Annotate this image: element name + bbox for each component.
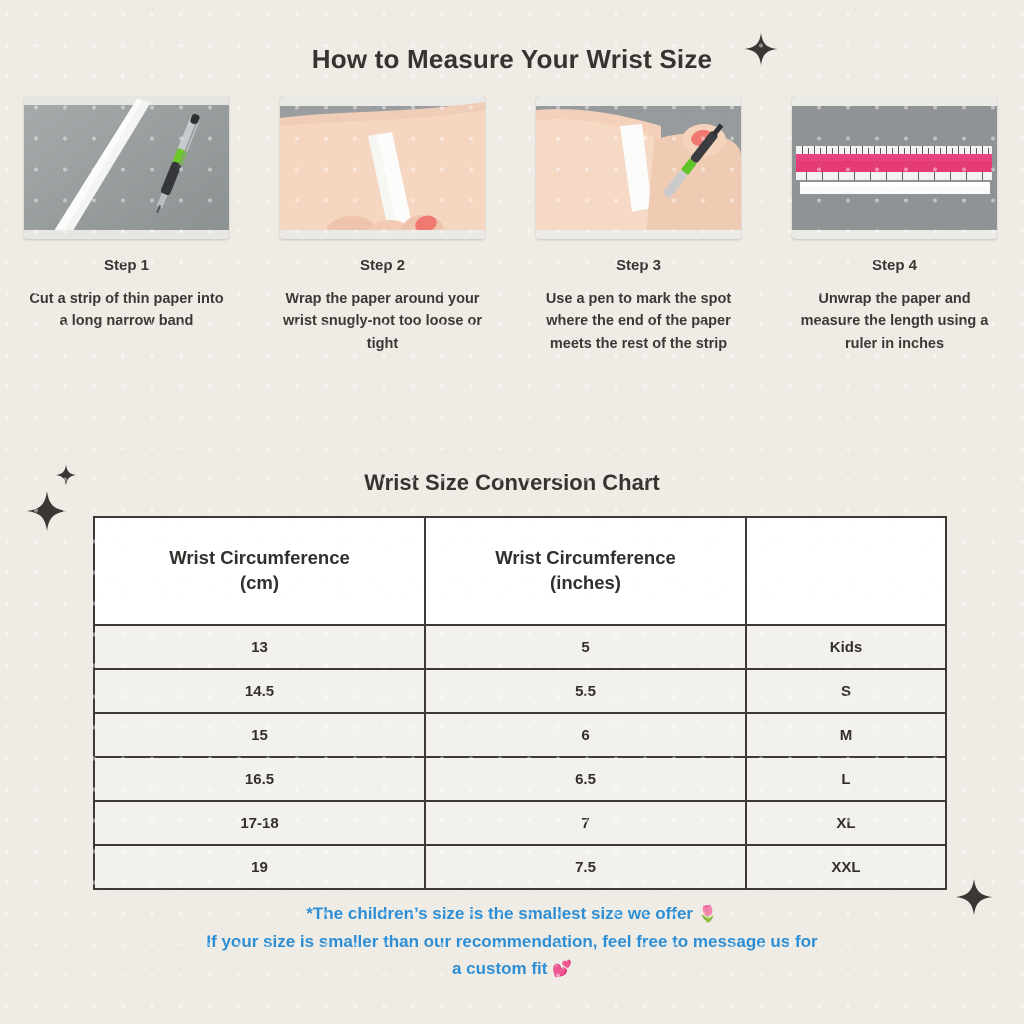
sparkle-footnote-right-icon — [955, 878, 993, 916]
cell-inches: 5.5 — [425, 669, 746, 713]
table-header: Wrist Circumference (cm) Wrist Circumfer… — [94, 517, 946, 625]
cell-cm: 14.5 — [94, 669, 425, 713]
column-header-inches-line1: Wrist Circumference — [436, 546, 735, 571]
sparkle-chart-left-small-icon — [55, 464, 77, 486]
table-row: 14.5 5.5 S — [94, 669, 946, 713]
paper-wrapped-around-wrist-photo — [280, 96, 485, 239]
cell-size: XL — [746, 801, 946, 845]
step-description-3: Use a pen to mark the spot where the end… — [536, 288, 741, 355]
sparkle-title-right-icon — [744, 32, 778, 66]
wrist-size-conversion-table: Wrist Circumference (cm) Wrist Circumfer… — [93, 516, 947, 890]
footnote-line-2: If your size is smaller than our recomme… — [60, 928, 964, 956]
step-description-1: Cut a strip of thin paper into a long na… — [24, 288, 229, 333]
step-card-4: Step 4 Unwrap the paper and measure the … — [792, 96, 997, 355]
tulip-icon: 🌷 — [698, 906, 718, 923]
step-card-1: Step 1 Cut a strip of thin paper into a … — [24, 96, 229, 355]
cell-inches: 7 — [425, 801, 746, 845]
step-label-4: Step 4 — [792, 257, 997, 274]
step-description-2: Wrap the paper around your wrist snugly-… — [280, 288, 485, 355]
step-label-1: Step 1 — [24, 257, 229, 274]
step-description-4: Unwrap the paper and measure the length … — [792, 288, 997, 355]
cell-size: Kids — [746, 625, 946, 669]
column-header-cm: Wrist Circumference (cm) — [94, 517, 425, 625]
footnote-line-1: *The children’s size is the smallest siz… — [60, 900, 964, 928]
cell-inches: 6.5 — [425, 757, 746, 801]
cell-size: S — [746, 669, 946, 713]
column-header-size — [746, 517, 946, 625]
cell-cm: 17-18 — [94, 801, 425, 845]
step-card-3: Step 3 Use a pen to mark the spot where … — [536, 96, 741, 355]
cell-cm: 16.5 — [94, 757, 425, 801]
table-header-row: Wrist Circumference (cm) Wrist Circumfer… — [94, 517, 946, 625]
measuring-paper-with-ruler-photo — [792, 96, 997, 239]
footnote-line-1-text: *The children’s size is the smallest siz… — [306, 904, 693, 923]
footnote-line-3: a custom fit 💕 — [60, 955, 964, 983]
cell-size: L — [746, 757, 946, 801]
table-body: 13 5 Kids 14.5 5.5 S 15 6 M 16.5 6.5 L 1… — [94, 625, 946, 889]
two-hearts-icon: 💕 — [552, 961, 572, 978]
cell-inches: 5 — [425, 625, 746, 669]
column-header-cm-line1: Wrist Circumference — [105, 546, 414, 571]
page-title: How to Measure Your Wrist Size — [0, 44, 1024, 75]
table-row: 13 5 Kids — [94, 625, 946, 669]
cell-inches: 6 — [425, 713, 746, 757]
step-label-2: Step 2 — [280, 257, 485, 274]
table-row: 17-18 7 XL — [94, 801, 946, 845]
step-card-2: Step 2 Wrap the paper around your wrist … — [280, 96, 485, 355]
step-label-3: Step 3 — [536, 257, 741, 274]
column-header-inches-line2: (inches) — [436, 571, 735, 596]
footnote: *The children’s size is the smallest siz… — [0, 900, 1024, 983]
cell-cm: 19 — [94, 845, 425, 889]
cell-cm: 13 — [94, 625, 425, 669]
column-header-inches: Wrist Circumference (inches) — [425, 517, 746, 625]
footnote-line-3-text: a custom fit — [452, 959, 547, 978]
column-header-cm-line2: (cm) — [105, 571, 414, 596]
paper-strip-and-pen-photo — [24, 96, 229, 239]
sparkle-chart-left-large-icon — [26, 490, 68, 532]
chart-title: Wrist Size Conversion Chart — [0, 470, 1024, 496]
cell-cm: 15 — [94, 713, 425, 757]
steps-strip: Step 1 Cut a strip of thin paper into a … — [24, 96, 1000, 355]
cell-inches: 7.5 — [425, 845, 746, 889]
table-row: 16.5 6.5 L — [94, 757, 946, 801]
table-row: 15 6 M — [94, 713, 946, 757]
cell-size: M — [746, 713, 946, 757]
cell-size: XXL — [746, 845, 946, 889]
table-row: 19 7.5 XXL — [94, 845, 946, 889]
marking-paper-with-pen-photo — [536, 96, 741, 239]
